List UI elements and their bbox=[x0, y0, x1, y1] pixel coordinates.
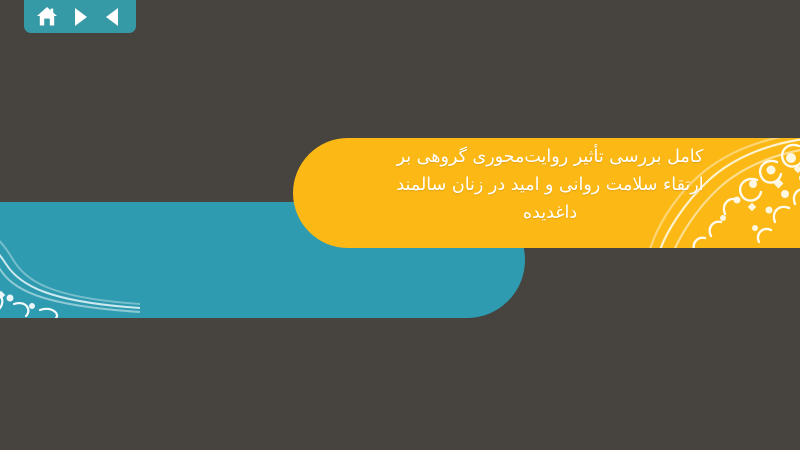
slide-canvas: کامل بررسی تأثیر روایت‌محوری گروهی بر ار… bbox=[0, 0, 800, 450]
back-button[interactable] bbox=[100, 4, 126, 30]
home-button[interactable] bbox=[34, 4, 60, 30]
home-icon bbox=[36, 6, 58, 27]
title-line-1: کامل بررسی تأثیر روایت‌محوری گروهی بر bbox=[300, 143, 800, 171]
teal-arabesque-ornament-icon bbox=[0, 202, 140, 318]
forward-button[interactable] bbox=[67, 4, 93, 30]
navigation-bar bbox=[24, 0, 136, 33]
title-line-2: ارتقاء سلامت روانی و امید در زنان سالمند bbox=[300, 171, 800, 199]
triangle-left-icon bbox=[104, 7, 122, 27]
triangle-right-icon bbox=[71, 7, 89, 27]
slide-title: کامل بررسی تأثیر روایت‌محوری گروهی بر ار… bbox=[300, 143, 800, 227]
title-line-3: داغدیده bbox=[300, 199, 800, 227]
